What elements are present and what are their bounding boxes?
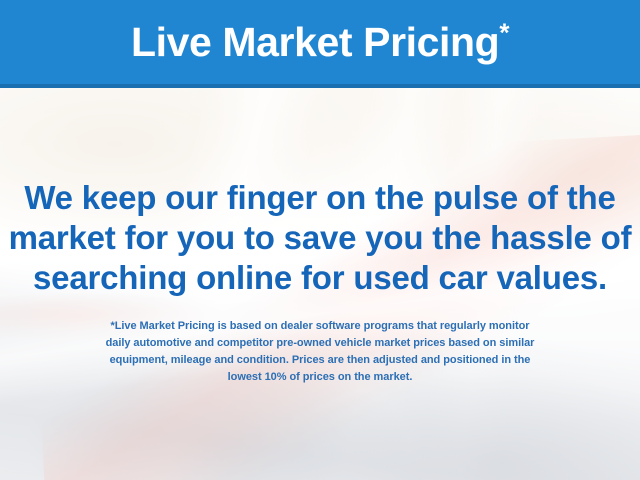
headline-line-2: market for you to save you the hassle of <box>0 218 640 258</box>
disclaimer-line-4: lowest 10% of prices on the market. <box>0 369 640 386</box>
disclaimer-line-3: equipment, mileage and condition. Prices… <box>0 352 640 369</box>
disclaimer-line-1: *Live Market Pricing is based on dealer … <box>0 318 640 335</box>
headline-block: We keep our finger on the pulse of the m… <box>0 178 640 298</box>
headline-line-3: searching online for used car values. <box>0 258 640 298</box>
disclaimer-line-2: daily automotive and competitor pre-owne… <box>0 335 640 352</box>
header-banner: Live Market Pricing* <box>0 0 640 88</box>
banner-title-footnote-marker: * <box>499 17 509 47</box>
banner-title: Live Market Pricing* <box>121 22 519 63</box>
live-market-pricing-slide: Live Market Pricing* We keep our finger … <box>0 0 640 480</box>
headline-line-1: We keep our finger on the pulse of the <box>0 178 640 218</box>
banner-title-text: Live Market Pricing <box>131 19 499 65</box>
disclaimer-block: *Live Market Pricing is based on dealer … <box>0 318 640 386</box>
